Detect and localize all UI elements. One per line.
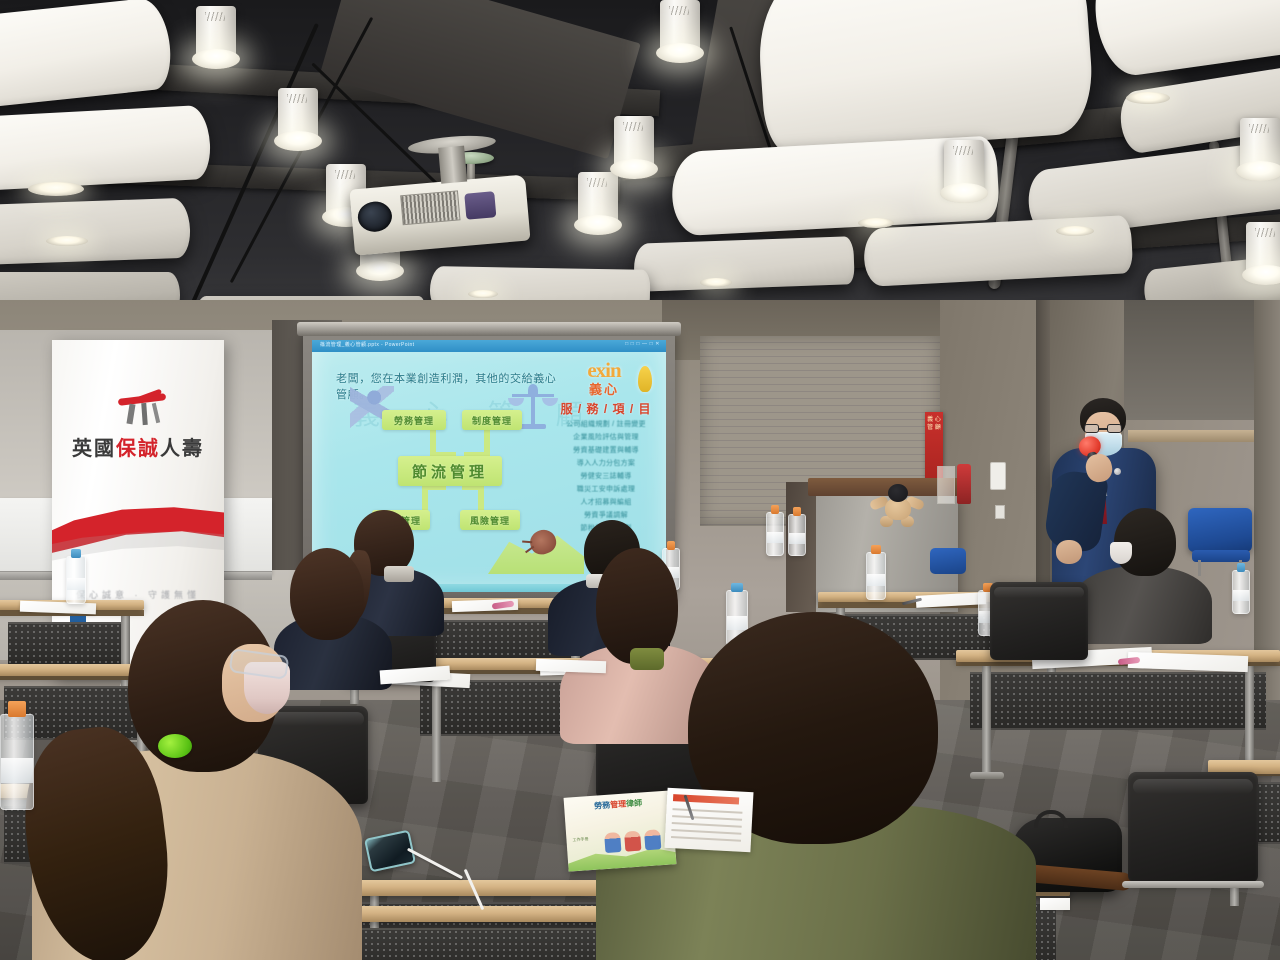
chair-back-rim	[1133, 779, 1253, 794]
ceiling-downlight	[196, 6, 236, 60]
slide-box-risk: 風險管理	[460, 510, 520, 530]
titlebar-document-name: 篠流管理_義心管顧.pptx - PowerPoint	[320, 341, 550, 348]
water-bottle[interactable]	[66, 556, 86, 604]
projector-mount-arm	[438, 146, 467, 184]
ceiling-downlight	[660, 0, 700, 54]
handout-sheet[interactable]	[664, 788, 753, 852]
booklet-character	[604, 832, 621, 853]
bottle-label	[789, 533, 805, 543]
ceiling-downlight	[578, 172, 618, 226]
booklet-subtitle: 工作手冊	[572, 836, 598, 844]
services-item: 導入人力分包方案	[552, 457, 660, 470]
eyeglass-bridge	[1099, 428, 1107, 430]
ceiling-projector	[349, 174, 530, 255]
projection-screen-roller[interactable]	[297, 322, 681, 336]
handout-text-line	[672, 808, 742, 814]
attendee-right-back	[1072, 508, 1212, 634]
banner-brand-part-red: 保誠	[116, 438, 160, 460]
titlebar-window-controls[interactable]: □ □ □ — □ ✕	[625, 341, 660, 347]
acoustic-ceiling-panel	[754, 0, 1096, 155]
training-handout-booklet[interactable]: 勞務管理律師 工作手冊	[564, 790, 677, 871]
acoustic-ceiling-panel	[1089, 0, 1280, 79]
recessed-ceiling-light	[1126, 92, 1170, 104]
bear-head	[888, 484, 908, 502]
exin-mascot-icon	[638, 366, 652, 392]
downlight-vent-icon	[669, 6, 689, 15]
handout-paper	[1040, 898, 1070, 910]
ceiling-downlight	[944, 140, 984, 194]
services-item: 勞資基礎建置與輔導	[552, 444, 660, 457]
podium-red-bottle	[957, 464, 971, 504]
booklet-title-line2: 管理	[610, 800, 627, 810]
scale-post	[531, 394, 535, 424]
services-item: 職災工安申訴處理	[552, 483, 660, 496]
chair-arm-rail	[1122, 881, 1264, 888]
spare-blue-chair-2[interactable]	[930, 548, 966, 574]
recessed-ceiling-light	[1056, 226, 1094, 236]
slide-box-labor: 勞務管理	[382, 410, 446, 430]
wall-sensor-plate	[995, 505, 1005, 519]
acoustic-ceiling-panel	[0, 198, 191, 267]
booklet-character	[624, 831, 641, 852]
bottle-cap	[871, 545, 881, 554]
recessed-ceiling-light	[700, 278, 732, 287]
services-item: 公司組織規劃 / 註冊變更	[552, 418, 660, 431]
downlight-vent-icon	[1255, 228, 1275, 237]
downlight-vent-icon	[335, 170, 355, 179]
desk-leg	[432, 674, 441, 782]
water-bottle[interactable]	[788, 514, 806, 556]
scale-base	[520, 424, 546, 429]
red-banner-text: 義 心 管 顧	[925, 412, 943, 432]
bottle-cap	[771, 505, 780, 514]
presentation-app-titlebar: 篠流管理_義心管顧.pptx - PowerPoint □ □ □ — □ ✕	[312, 340, 666, 352]
water-bottle[interactable]	[0, 714, 34, 810]
presenter-lapel-pin	[1114, 468, 1121, 475]
attendee-face-mask	[1110, 542, 1132, 564]
prudential-logo-icon	[116, 392, 174, 426]
downlight-vent-icon	[205, 12, 225, 21]
water-bottle[interactable]	[766, 512, 784, 556]
ceiling-downlight	[1246, 222, 1280, 276]
booklet-title-line3: 律師	[626, 798, 643, 808]
bottle-cap	[1237, 563, 1246, 572]
logo-stroke	[126, 404, 135, 425]
water-bottle[interactable]	[866, 552, 886, 600]
projector-vent-icon	[400, 190, 460, 225]
logo-stroke	[141, 403, 148, 425]
podium-jar	[937, 466, 955, 504]
water-bottle[interactable]	[1232, 570, 1250, 614]
services-item: 人才招募與編組	[552, 496, 660, 509]
downlight-vent-icon	[1249, 124, 1269, 133]
scale-pan-left	[508, 398, 524, 406]
chair-back-rim	[994, 587, 1084, 598]
booklet-title-line1: 勞務	[594, 801, 611, 811]
services-item: 勞健安三誌輔導	[552, 470, 660, 483]
booklet-title: 勞務管理律師	[594, 797, 669, 812]
ceiling-downlight	[1240, 118, 1280, 172]
ceiling-downlight	[614, 116, 654, 170]
downlight-vent-icon	[623, 122, 643, 131]
banner-brand-name: 英國保誠人壽	[52, 432, 224, 461]
attendee-hair-tie	[158, 734, 192, 758]
ceiling	[0, 0, 1280, 340]
attendee-front-left	[32, 600, 372, 960]
sprinkler-stem	[467, 164, 475, 180]
booklet-character-illustration	[602, 823, 666, 853]
plush-bear-figurine	[872, 484, 922, 528]
presenter-eyeglasses	[1084, 424, 1122, 433]
downlight-vent-icon	[287, 94, 307, 103]
handout-text-line	[672, 815, 742, 821]
office-chair[interactable]	[1128, 772, 1258, 882]
bottle-cap	[8, 701, 26, 717]
booklet-character	[644, 829, 661, 850]
scale-pan-right	[542, 398, 558, 406]
recessed-ceiling-light	[468, 290, 498, 298]
downlight-vent-icon	[953, 146, 973, 155]
logo-stroke	[152, 403, 160, 423]
slide-box-system: 制度管理	[462, 410, 522, 430]
bottle-label	[867, 574, 885, 586]
ceiling-downlight	[278, 88, 318, 142]
banner-brand-part-1: 英國	[72, 438, 116, 460]
right-wall-edge	[1254, 300, 1280, 700]
acoustic-ceiling-panel	[633, 236, 855, 292]
bottle-label	[1233, 590, 1249, 601]
slide-box-center: 節流管理	[398, 456, 502, 486]
services-heading: 服 / 務 / 項 / 目	[554, 400, 658, 417]
meeting-room-photo: 篠流管理_義心管顧.pptx - PowerPoint □ □ □ — □ ✕ …	[0, 0, 1280, 960]
projector-adjust-knob[interactable]	[464, 191, 496, 220]
bottle-label	[1, 758, 33, 782]
banner-brand-part-2: 人壽	[160, 438, 204, 460]
attendee-front-right	[596, 612, 1036, 960]
projector-lens-icon	[357, 200, 393, 233]
recessed-ceiling-light	[858, 218, 894, 228]
recessed-ceiling-light	[46, 236, 88, 246]
exin-logo: exin 義心	[552, 360, 656, 398]
handout-text-line	[672, 822, 742, 828]
acoustic-ceiling-panel	[0, 0, 174, 112]
bottle-label	[67, 578, 85, 590]
handout-text-line	[671, 829, 741, 835]
bottle-cap	[71, 549, 81, 558]
recessed-ceiling-light	[28, 182, 84, 196]
bottle-cap	[793, 507, 802, 516]
attendee-torso	[1072, 566, 1212, 644]
services-list: 公司組織規劃 / 註冊變更 企業風险評估與管理 勞資基礎建置與輔導 導入人力分包…	[552, 418, 660, 535]
acoustic-ceiling-panel	[863, 215, 1134, 287]
eyeglass-lens-left	[1084, 424, 1099, 433]
downlight-vent-icon	[587, 178, 607, 187]
bottle-cap	[731, 583, 742, 592]
wall-switch-plate[interactable]	[990, 462, 1006, 490]
handout-text-line	[671, 836, 741, 842]
services-item: 企業風险評估與管理	[552, 431, 660, 444]
bottle-label	[767, 532, 783, 543]
eyeglass-lens-right	[1107, 424, 1122, 433]
acoustic-ceiling-panel	[0, 105, 212, 194]
